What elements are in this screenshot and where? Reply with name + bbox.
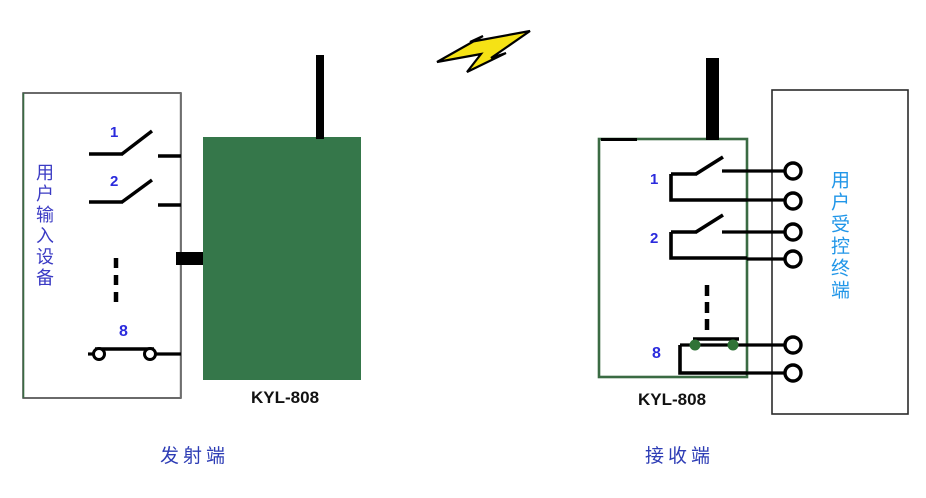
rx-terminal-8a	[785, 337, 801, 353]
rx-model-label: KYL-808	[638, 390, 706, 410]
rx-terminal-2b	[785, 251, 801, 267]
rx-relay-8-number: 8	[652, 345, 661, 363]
rx-relay-2-lever	[696, 215, 723, 232]
rx-relay-8-dot-right	[728, 340, 739, 351]
tx-switch-8-number: 8	[119, 323, 128, 341]
tx-user-device-label: 用户输入设备	[30, 163, 56, 289]
lightning-bolt-icon	[437, 31, 530, 72]
receiver-group	[599, 58, 908, 414]
tx-radio-module-body	[203, 137, 361, 380]
tx-cable-connector	[176, 252, 206, 265]
rx-relay-1-lever	[696, 157, 723, 174]
rx-relay-2-frame	[671, 232, 747, 258]
rx-terminal-1a	[785, 163, 801, 179]
tx-caption: 发射端	[160, 441, 229, 468]
rx-relay-8-dot-left	[690, 340, 701, 351]
transmitter-group	[23, 55, 361, 398]
rx-user-terminal-label: 用户受控终端	[826, 170, 853, 302]
rx-terminal-1b	[785, 193, 801, 209]
diagram-canvas: 用户输入设备 用户受控终端 KYL-808 KYL-808 发射端 接收端 1 …	[0, 0, 926, 498]
rx-terminal-8b	[785, 365, 801, 381]
rx-relay-1-frame	[671, 174, 747, 200]
tx-switch-2-number: 2	[110, 173, 118, 190]
rx-relay-2-number: 2	[650, 230, 658, 247]
wireless-link-icon	[437, 31, 530, 72]
tx-switch-1-number: 1	[110, 124, 118, 141]
tx-switch-8-terminal-left	[94, 349, 105, 360]
rx-relay-1-number: 1	[650, 171, 658, 188]
wireless-switch-diagram	[0, 0, 926, 498]
rx-antenna-icon	[706, 58, 719, 140]
tx-model-label: KYL-808	[251, 388, 319, 408]
rx-terminal-2a	[785, 224, 801, 240]
rx-caption: 接收端	[645, 441, 714, 468]
rx-relay-8-frame	[680, 345, 747, 373]
tx-antenna-icon	[316, 55, 324, 139]
tx-switch-8-terminal-right	[145, 349, 156, 360]
